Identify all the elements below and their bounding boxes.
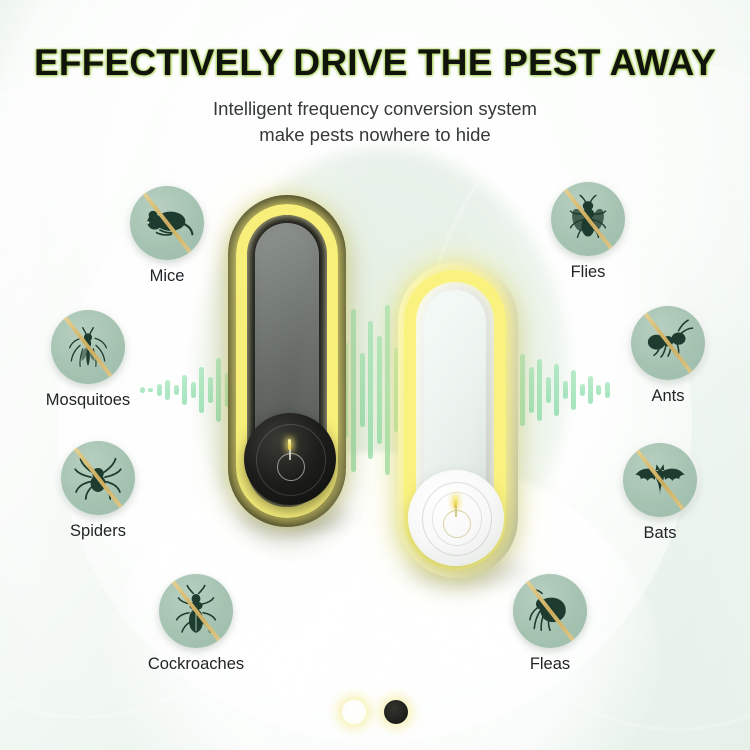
white-repeller — [398, 262, 530, 592]
pest-badge-label: Fleas — [490, 655, 610, 674]
ant-icon — [631, 306, 705, 380]
pest-badge-fleas[interactable]: Fleas — [490, 574, 610, 674]
power-icon[interactable] — [277, 453, 305, 481]
color-options — [0, 700, 750, 724]
power-icon-stem — [455, 506, 457, 517]
subtitle: Intelligent frequency conversion system … — [0, 96, 750, 149]
subtitle-line-2: make pests nowhere to hide — [259, 124, 490, 145]
pest-badge-spiders[interactable]: Spiders — [38, 441, 158, 541]
spider-icon — [61, 441, 135, 515]
power-icon-stem — [289, 449, 291, 460]
pest-badge-label: Mice — [107, 267, 227, 286]
infographic-canvas: EFFECTIVELY DRIVE THE PEST AWAY Intellig… — [0, 0, 750, 750]
waveform-bar — [385, 305, 390, 475]
power-icon[interactable] — [443, 510, 471, 538]
mosquito-icon — [51, 310, 125, 384]
pest-badge-label: Spiders — [38, 522, 158, 541]
black-repeller — [228, 195, 353, 540]
pest-badge-label: Bats — [600, 524, 720, 543]
device-base — [244, 413, 336, 505]
waveform-bar — [377, 336, 382, 443]
pest-badge-label: Cockroaches — [136, 655, 256, 674]
page-title: EFFECTIVELY DRIVE THE PEST AWAY — [0, 0, 750, 84]
pest-badge-label: Ants — [608, 387, 728, 406]
pest-badge-cockroaches[interactable]: Cockroaches — [136, 574, 256, 674]
device-base — [408, 470, 504, 566]
pest-badge-mice[interactable]: Mice — [107, 186, 227, 286]
pest-badge-label: Mosquitoes — [28, 391, 148, 410]
waveform-bar — [368, 321, 373, 458]
bat-icon — [623, 443, 697, 517]
pest-badge-label: Flies — [528, 263, 648, 282]
pest-badge-flies[interactable]: Flies — [528, 182, 648, 282]
waveform-bar — [360, 353, 365, 428]
fly-icon — [551, 182, 625, 256]
pest-badge-mosquitoes[interactable]: Mosquitoes — [28, 310, 148, 410]
header: EFFECTIVELY DRIVE THE PEST AWAY Intellig… — [0, 0, 750, 149]
cockroach-icon — [159, 574, 233, 648]
white-color-swatch[interactable] — [342, 700, 366, 724]
flea-icon — [513, 574, 587, 648]
pest-badge-ants[interactable]: Ants — [608, 306, 728, 406]
pest-badge-bats[interactable]: Bats — [600, 443, 720, 543]
subtitle-line-1: Intelligent frequency conversion system — [213, 98, 537, 119]
black-color-swatch[interactable] — [384, 700, 408, 724]
mouse-icon — [130, 186, 204, 260]
